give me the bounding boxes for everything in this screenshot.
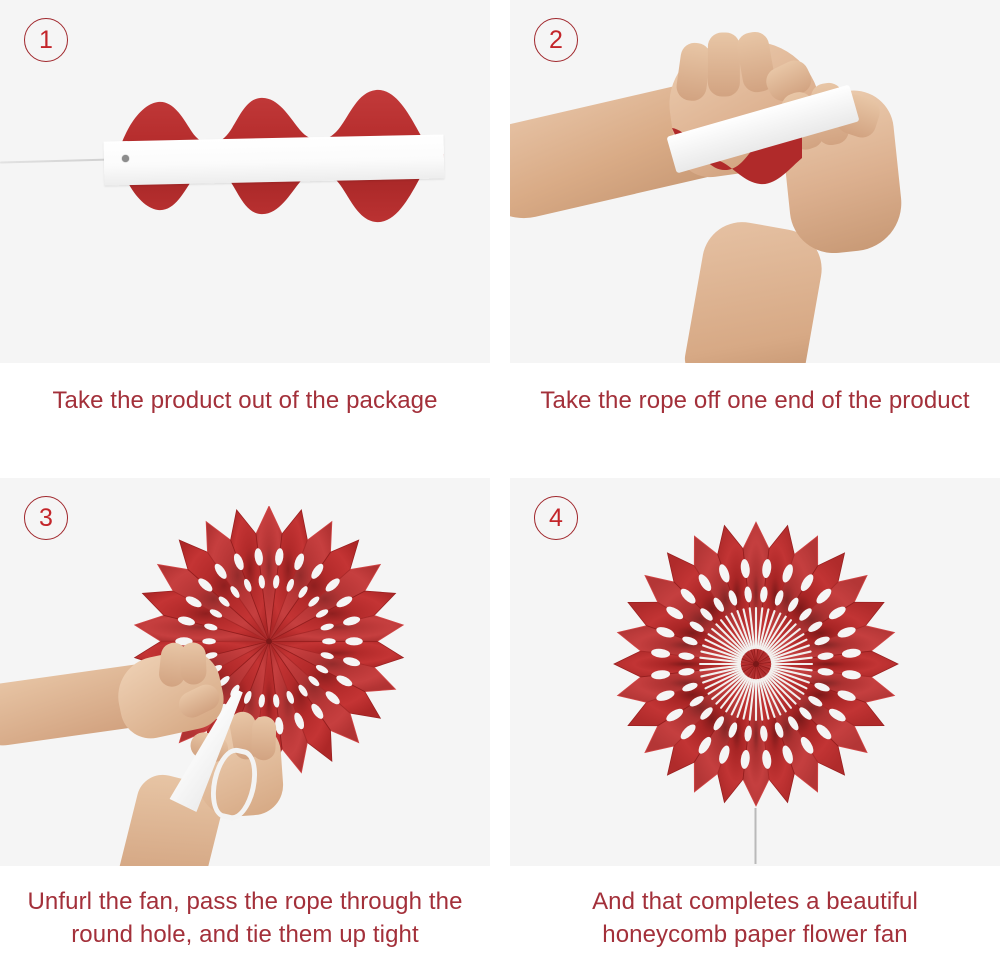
step-number-badge-2: 2 bbox=[534, 18, 578, 62]
step-caption: Unfurl the fan, pass the rope through th… bbox=[27, 886, 462, 951]
finished-paper-fan bbox=[606, 514, 906, 814]
step-number-label: 4 bbox=[549, 506, 563, 531]
product-illustration-1 bbox=[0, 0, 490, 363]
step-4-caption-area: And that completes a beautiful honeycomb… bbox=[510, 866, 1000, 956]
white-paper-band bbox=[104, 134, 445, 185]
step-3-image: 3 bbox=[0, 478, 490, 866]
step-number-label: 1 bbox=[39, 28, 53, 53]
step-caption: And that completes a beautiful honeycomb… bbox=[592, 886, 918, 951]
step-1-caption-area: Take the product out of the package bbox=[0, 363, 490, 478]
step-4-image: 4 bbox=[510, 478, 1000, 866]
hands-illustration-2 bbox=[510, 0, 1000, 363]
thumb bbox=[175, 680, 224, 722]
step-number-badge-1: 1 bbox=[24, 18, 68, 62]
step-1-image: 1 bbox=[0, 0, 490, 363]
step-panel-3: 3 bbox=[0, 478, 490, 956]
step-panel-4: 4 bbox=[510, 478, 1000, 956]
hanging-thread-icon bbox=[755, 808, 757, 864]
instruction-sheet: 1 bbox=[0, 0, 1000, 956]
step-caption: Take the product out of the package bbox=[52, 385, 437, 418]
step-panel-1: 1 bbox=[0, 0, 490, 478]
finger bbox=[708, 33, 740, 97]
step-3-caption-area: Unfurl the fan, pass the rope through th… bbox=[0, 866, 490, 956]
step-number-label: 2 bbox=[549, 28, 563, 53]
step-panel-2: 2 bbox=[510, 0, 1000, 478]
step-number-badge-3: 3 bbox=[24, 496, 68, 540]
step-caption: Take the rope off one end of the product bbox=[540, 385, 969, 418]
finger bbox=[675, 41, 713, 103]
string-icon bbox=[0, 158, 112, 163]
finger bbox=[251, 716, 277, 761]
step-number-label: 3 bbox=[39, 506, 53, 531]
finger bbox=[179, 642, 206, 685]
step-2-image: 2 bbox=[510, 0, 1000, 363]
eyelet-hole-icon bbox=[122, 155, 129, 162]
step-number-badge-4: 4 bbox=[534, 496, 578, 540]
steps-grid: 1 bbox=[0, 0, 1000, 956]
step-2-caption-area: Take the rope off one end of the product bbox=[510, 363, 1000, 478]
